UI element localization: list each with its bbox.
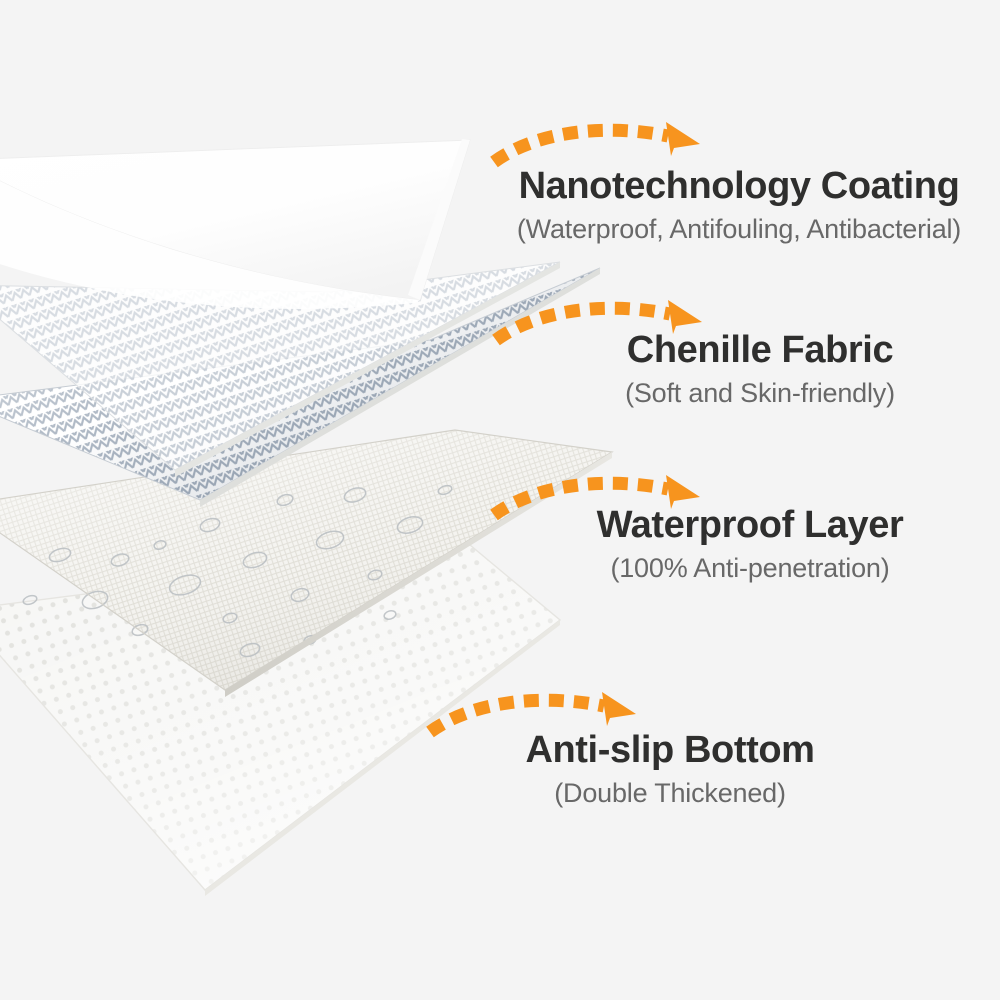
callout-anti-slip-bottom: Anti-slip Bottom (Double Thickened) [460,730,880,808]
callout-subtitle: (Soft and Skin-friendly) [560,378,960,408]
callout-title: Anti-slip Bottom [460,730,880,771]
callout-subtitle: (Waterproof, Antifouling, Antibacterial) [478,214,1000,244]
infographic-canvas: Nanotechnology Coating (Waterproof, Anti… [0,0,1000,1000]
callout-title: Waterproof Layer [540,505,960,546]
callout-nanotechnology-coating: Nanotechnology Coating (Waterproof, Anti… [478,166,1000,244]
callout-subtitle: (Double Thickened) [460,778,880,808]
callout-subtitle: (100% Anti-penetration) [540,553,960,583]
callout-chenille-fabric: Chenille Fabric (Soft and Skin-friendly) [560,330,960,408]
callout-waterproof-layer: Waterproof Layer (100% Anti-penetration) [540,505,960,583]
callout-title: Chenille Fabric [560,330,960,371]
layer-nanotechnology-coating [0,139,470,309]
callout-title: Nanotechnology Coating [478,166,1000,207]
